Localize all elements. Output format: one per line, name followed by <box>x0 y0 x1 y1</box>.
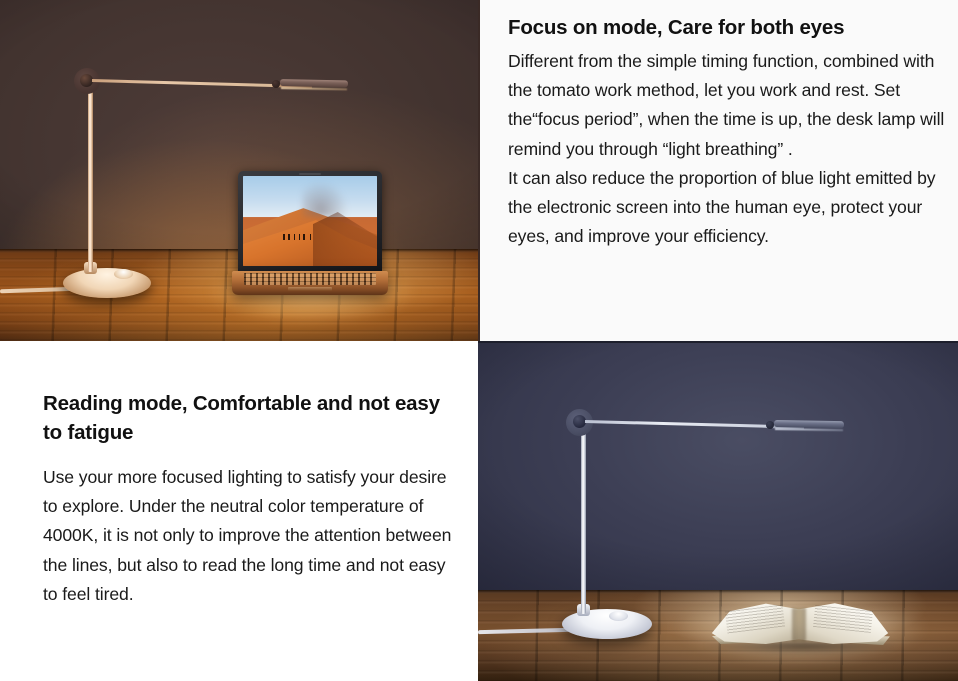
lamp-head <box>280 79 348 87</box>
feature-collage: Focus on mode, Care for both eyes Differ… <box>0 0 958 681</box>
focus-body: Different from the simple timing functio… <box>508 47 948 251</box>
focus-scene <box>0 0 478 341</box>
lamp-base <box>63 268 151 298</box>
lamp-control-knob <box>114 269 133 279</box>
lamp-head <box>774 420 844 428</box>
lamp-head-joint <box>766 421 774 429</box>
reading-body: Use your more focused lighting to satisf… <box>43 463 453 609</box>
reading-paragraph-1: Use your more focused lighting to satisf… <box>43 463 453 609</box>
reading-mode-text-panel: Reading mode, Comfortable and not easy t… <box>0 341 478 681</box>
reading-scene <box>478 341 958 681</box>
lamp-base <box>562 609 652 639</box>
lamp-led-strip <box>775 428 843 431</box>
focus-mode-text-panel: Focus on mode, Care for both eyes Differ… <box>478 0 958 341</box>
reading-copy-block: Reading mode, Comfortable and not easy t… <box>43 389 453 609</box>
focus-heading: Focus on mode, Care for both eyes <box>508 14 948 42</box>
lamp-head-joint <box>272 80 280 88</box>
focus-copy-block: Focus on mode, Care for both eyes Differ… <box>508 14 948 251</box>
reading-heading: Reading mode, Comfortable and not easy t… <box>43 389 453 447</box>
focus-paragraph-1: Different from the simple timing functio… <box>508 47 948 164</box>
focus-mode-photo <box>0 0 478 341</box>
focus-paragraph-2: It can also reduce the proportion of blu… <box>508 164 948 252</box>
lamp-control-knob <box>609 611 628 621</box>
lamp-arm <box>585 420 770 428</box>
desk-lamp-cool <box>478 341 958 681</box>
lamp-power-cord <box>478 628 570 634</box>
lamp-post <box>581 426 586 614</box>
lamp-led-strip <box>281 87 347 90</box>
lamp-arm <box>92 79 277 87</box>
reading-mode-photo <box>478 341 958 681</box>
lamp-post <box>88 85 93 272</box>
desk-lamp-warm <box>0 0 478 341</box>
